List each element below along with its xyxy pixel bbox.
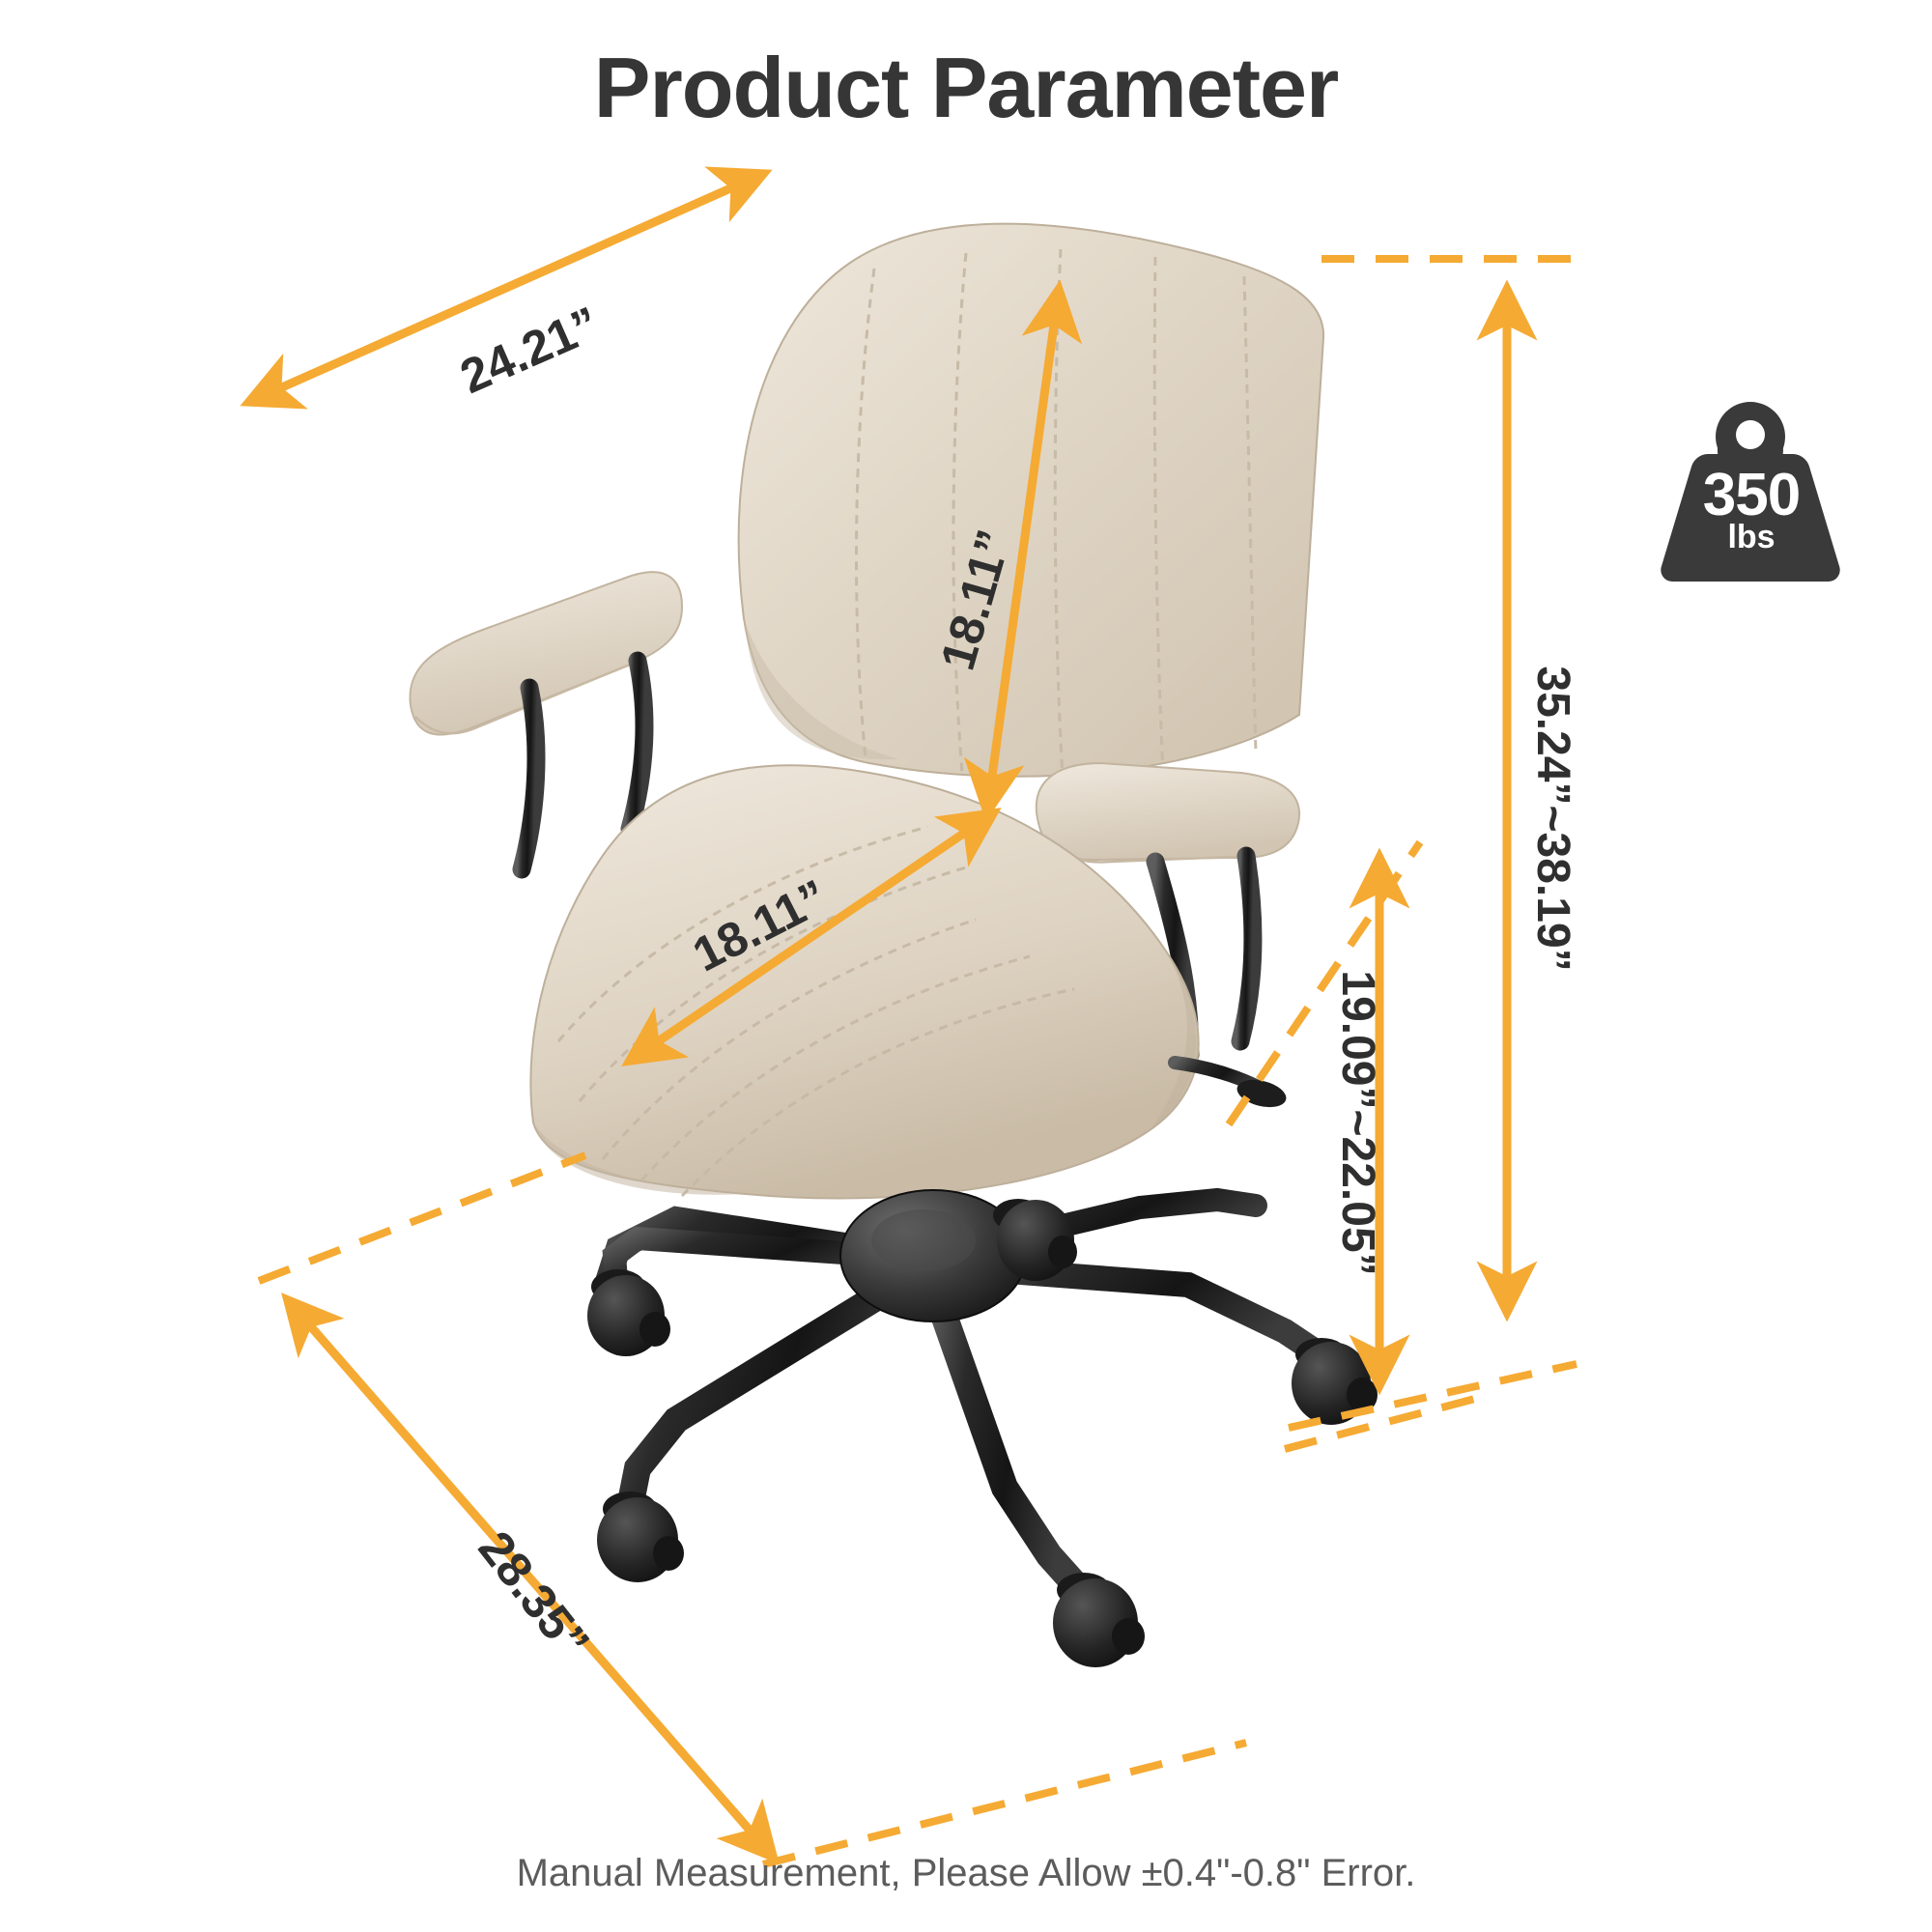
guideline-base-left xyxy=(259,1155,585,1281)
chair-base xyxy=(607,1190,1320,1592)
product-parameter-diagram: Product Parameter xyxy=(0,0,1932,1932)
weight-capacity-unit: lbs xyxy=(1669,519,1833,556)
caster-rear-left xyxy=(587,1269,670,1356)
dimension-label-seat-height: 19.09”~22.05” xyxy=(1331,970,1384,1275)
measurement-disclaimer: Manual Measurement, Please Allow ±0.4"-0… xyxy=(0,1852,1932,1895)
office-chair-illustration xyxy=(0,0,1932,1932)
guideline-base-front xyxy=(763,1743,1246,1864)
dimension-label-overall-height: 35.24”~38.19” xyxy=(1526,666,1579,971)
tilt-lever[interactable] xyxy=(1175,1063,1289,1112)
caster-left-front xyxy=(597,1492,684,1582)
weight-capacity-badge: 350 lbs xyxy=(1669,411,1833,584)
caster-front xyxy=(1053,1573,1145,1667)
